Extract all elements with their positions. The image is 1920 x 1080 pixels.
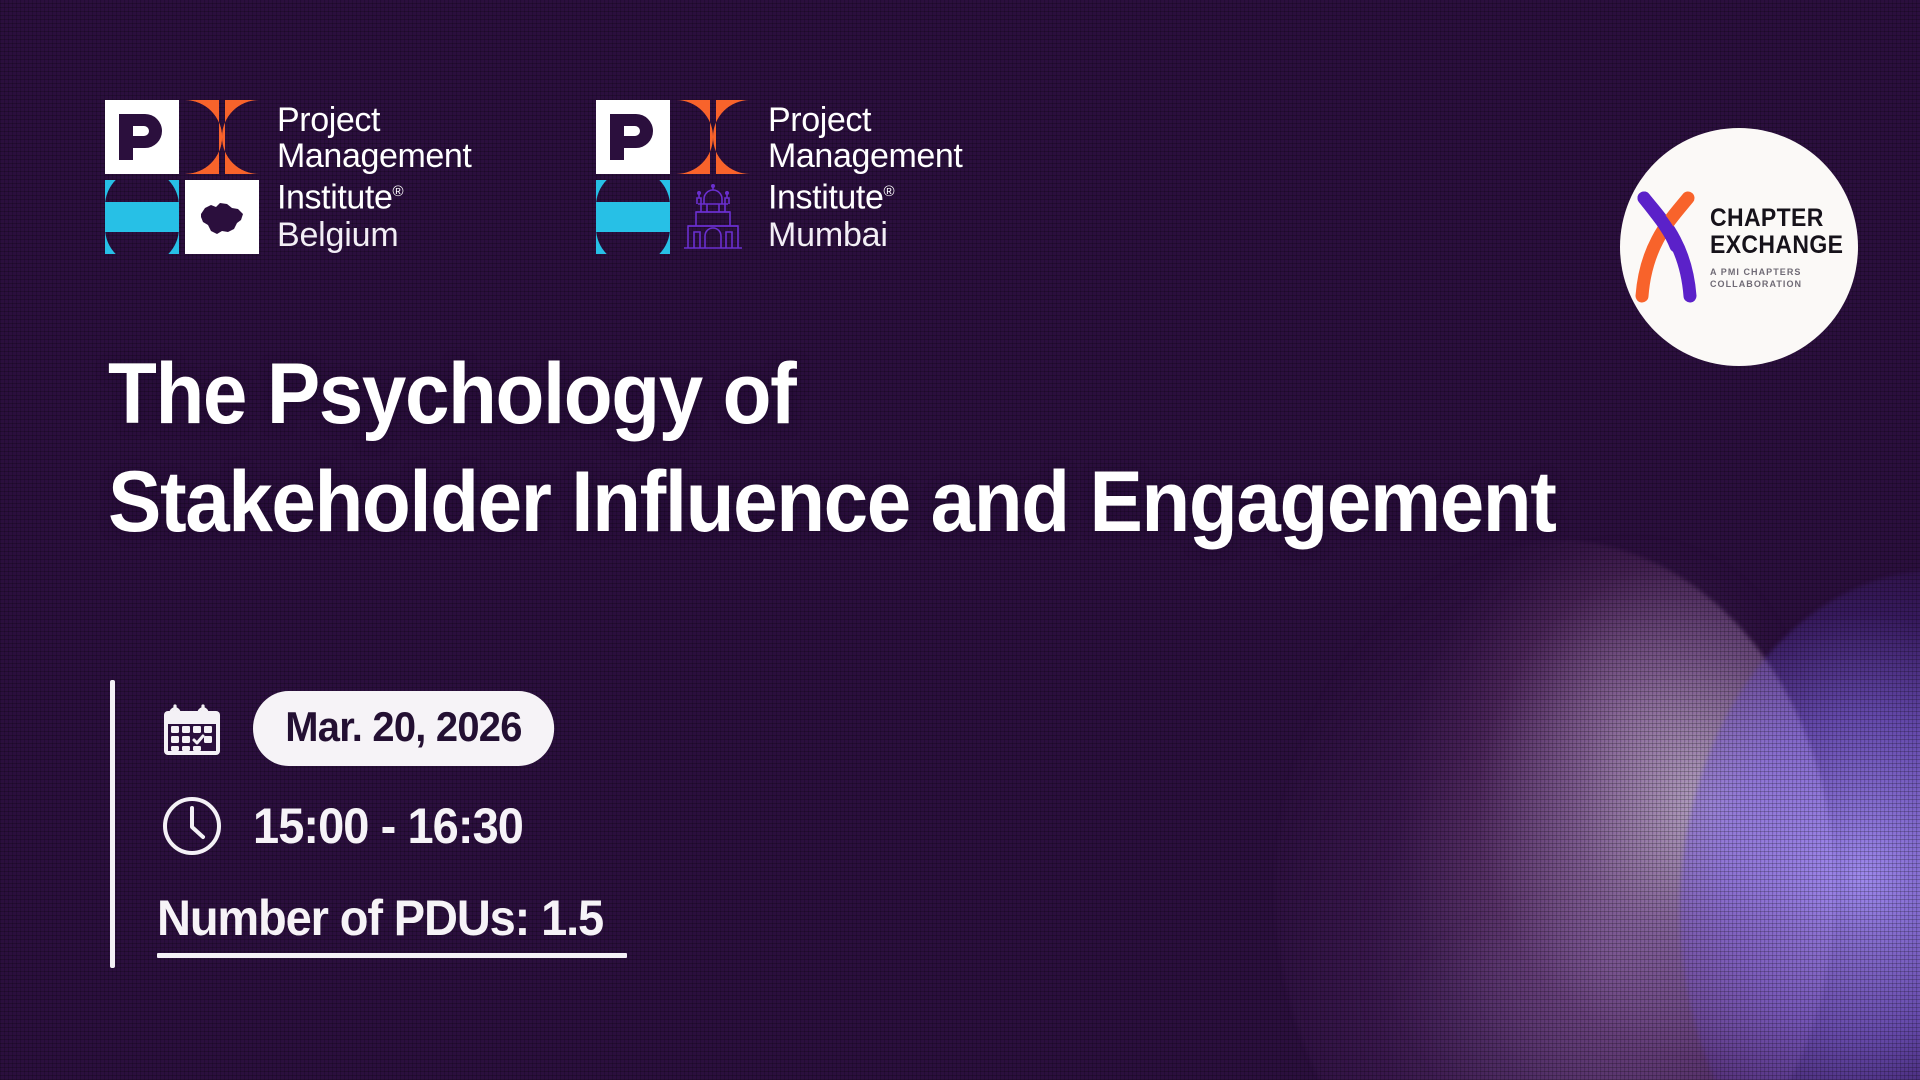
chapter-exchange-text: CHAPTER EXCHANGE A PMI CHAPTERS COLLABOR… [1710, 205, 1855, 290]
event-pdus-row: Number of PDUs: 1.5 [155, 876, 632, 968]
event-title-line-1: The Psychology of [108, 340, 1556, 448]
pmi-org-line-3: Institute® [277, 174, 471, 215]
pmi-chapter-name: Mumbai [768, 215, 962, 255]
pmi-org-line-1: Project [277, 102, 471, 138]
pmi-org-line-3: Institute® [768, 174, 962, 215]
event-pdus-text: Number of PDUs: 1.5 [157, 891, 603, 945]
pmi-letter-p-tile [105, 100, 179, 174]
chapter-exchange-badge: CHAPTER EXCHANGE A PMI CHAPTERS COLLABOR… [1620, 128, 1858, 366]
pmi-bowtie-cyan-tile [105, 180, 179, 254]
pmi-mumbai-logo: Project Management Institute® Mumbai [596, 100, 962, 255]
event-title: The Psychology of Stakeholder Influence … [108, 340, 1556, 556]
event-time-text: 15:00 - 16:30 [253, 800, 523, 852]
pmi-org-line-2: Management [768, 138, 962, 174]
chapter-exchange-title-line-2: EXCHANGE [1710, 232, 1843, 259]
pmi-mumbai-wordmark: Project Management Institute® Mumbai [768, 100, 962, 255]
event-details: Mar. 20, 2026 15:00 - 16:30 Number of PD… [110, 680, 632, 968]
pmi-mark [105, 100, 259, 254]
event-date-pill: Mar. 20, 2026 [253, 691, 554, 766]
event-banner: Project Management Institute® Belgium [0, 0, 1920, 1080]
pmi-gateway-of-india-tile [676, 180, 750, 254]
pmi-mark [596, 100, 750, 254]
pmi-org-line-2: Management [277, 138, 471, 174]
details-rows: Mar. 20, 2026 15:00 - 16:30 Number of PD… [115, 680, 632, 968]
pmi-org-line-1: Project [768, 102, 962, 138]
pmi-letter-p-tile [596, 100, 670, 174]
pmi-bowtie-orange-tile [185, 100, 259, 174]
pmi-chapter-name: Belgium [277, 215, 471, 255]
background-orb-glow [1480, 560, 1780, 860]
clock-icon [155, 789, 229, 863]
chapter-exchange-title-line-1: CHAPTER [1710, 205, 1843, 232]
chapter-exchange-subtitle-line-2: COLLABORATION [1710, 278, 1849, 290]
background-orb-bottom [1360, 900, 1920, 1080]
pmi-bowtie-cyan-tile [596, 180, 670, 254]
event-pdus-wrap: Number of PDUs: 1.5 [155, 891, 632, 958]
pmi-belgium-logo: Project Management Institute® Belgium [105, 100, 471, 255]
calendar-icon [155, 691, 229, 765]
registered-trademark-icon: ® [392, 183, 403, 200]
registered-trademark-icon: ® [883, 183, 894, 200]
event-date-row: Mar. 20, 2026 [155, 680, 632, 776]
event-time-row: 15:00 - 16:30 [155, 776, 632, 876]
crossing-x-icon [1628, 188, 1704, 306]
chapter-exchange-subtitle-line-1: A PMI CHAPTERS [1710, 266, 1849, 278]
pmi-bowtie-orange-tile [676, 100, 750, 174]
background-orb-right [1680, 570, 1920, 1080]
event-title-line-2: Stakeholder Influence and Engagement [108, 448, 1556, 556]
pmi-belgium-map-tile [185, 180, 259, 254]
event-pdus-underline [157, 953, 627, 958]
background-orb-left [1275, 540, 1835, 1080]
pmi-belgium-wordmark: Project Management Institute® Belgium [277, 100, 471, 255]
